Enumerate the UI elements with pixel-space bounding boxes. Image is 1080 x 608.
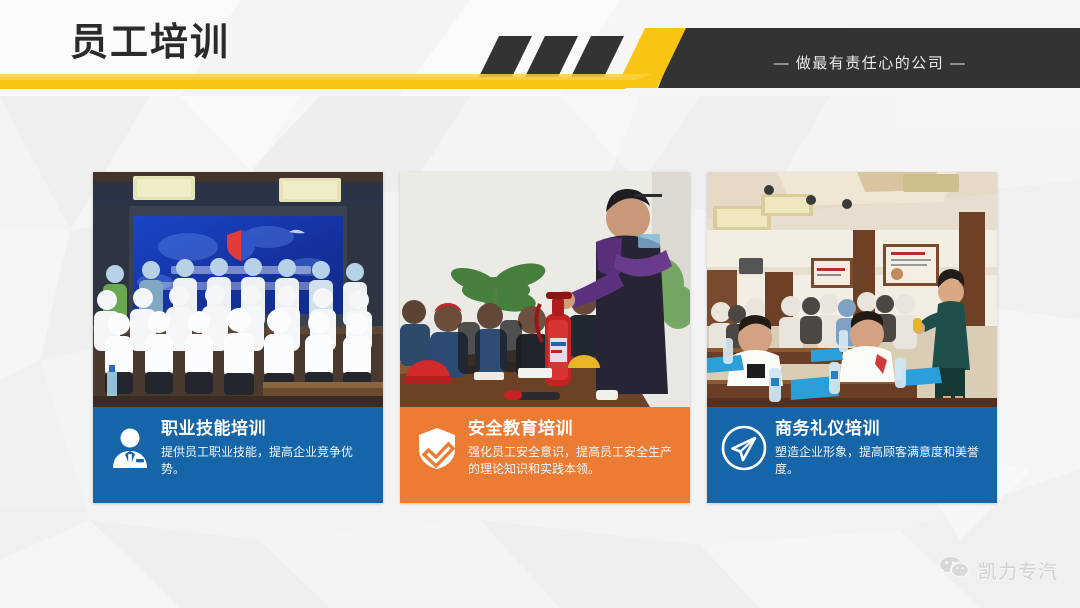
training-cards: 职业技能培训 提供员工职业技能，提高企业竞争优势。 bbox=[93, 172, 997, 503]
card-title: 安全教育培训 bbox=[468, 420, 673, 439]
watermark: 凯力专汽 bbox=[939, 555, 1058, 586]
header-slogan: — 做最有责任心的公司 — bbox=[700, 52, 1040, 73]
photo-fire-safety bbox=[400, 172, 690, 407]
card-description: 塑造企业形象，提高顾客满意度和美誉度。 bbox=[775, 444, 980, 478]
card-caption: 安全教育培训 强化员工安全意识，提高员工安全生产的理论知识和实践本领。 bbox=[400, 407, 690, 503]
slide: 员工培训 — 做最有责任心的公司 — bbox=[0, 0, 1080, 608]
card-title: 职业技能培训 bbox=[161, 420, 366, 439]
card-text: 安全教育培训 强化员工安全意识，提高员工安全生产的理论知识和实践本领。 bbox=[468, 420, 685, 478]
card-text: 商务礼仪培训 塑造企业形象，提高顾客满意度和美誉度。 bbox=[775, 420, 992, 478]
photo-etiquette-class bbox=[707, 172, 997, 407]
watermark-text: 凯力专汽 bbox=[978, 557, 1058, 584]
businessman-icon bbox=[99, 420, 161, 476]
wechat-icon bbox=[939, 555, 969, 586]
card-text: 职业技能培训 提供员工职业技能，提高企业竞争优势。 bbox=[161, 420, 378, 478]
training-card-safety-education[interactable]: 安全教育培训 强化员工安全意识，提高员工安全生产的理论知识和实践本领。 bbox=[400, 172, 690, 503]
card-title: 商务礼仪培训 bbox=[775, 420, 980, 439]
card-description: 提供员工职业技能，提高企业竞争优势。 bbox=[161, 444, 366, 478]
training-card-business-etiquette[interactable]: 商务礼仪培训 塑造企业形象，提高顾客满意度和美誉度。 bbox=[707, 172, 997, 503]
shield-check-icon bbox=[406, 420, 468, 476]
card-description: 强化员工安全意识，提高员工安全生产的理论知识和实践本领。 bbox=[468, 444, 673, 478]
card-caption: 商务礼仪培训 塑造企业形象，提高顾客满意度和美誉度。 bbox=[707, 407, 997, 503]
slide-header: 员工培训 — 做最有责任心的公司 — bbox=[0, 0, 1080, 96]
card-caption: 职业技能培训 提供员工职业技能，提高企业竞争优势。 bbox=[93, 407, 383, 503]
photo-group-ceremony bbox=[93, 172, 383, 407]
page-title: 员工培训 bbox=[70, 23, 230, 61]
training-card-vocational-skills[interactable]: 职业技能培训 提供员工职业技能，提高企业竞争优势。 bbox=[93, 172, 383, 503]
paper-plane-icon bbox=[713, 420, 775, 476]
